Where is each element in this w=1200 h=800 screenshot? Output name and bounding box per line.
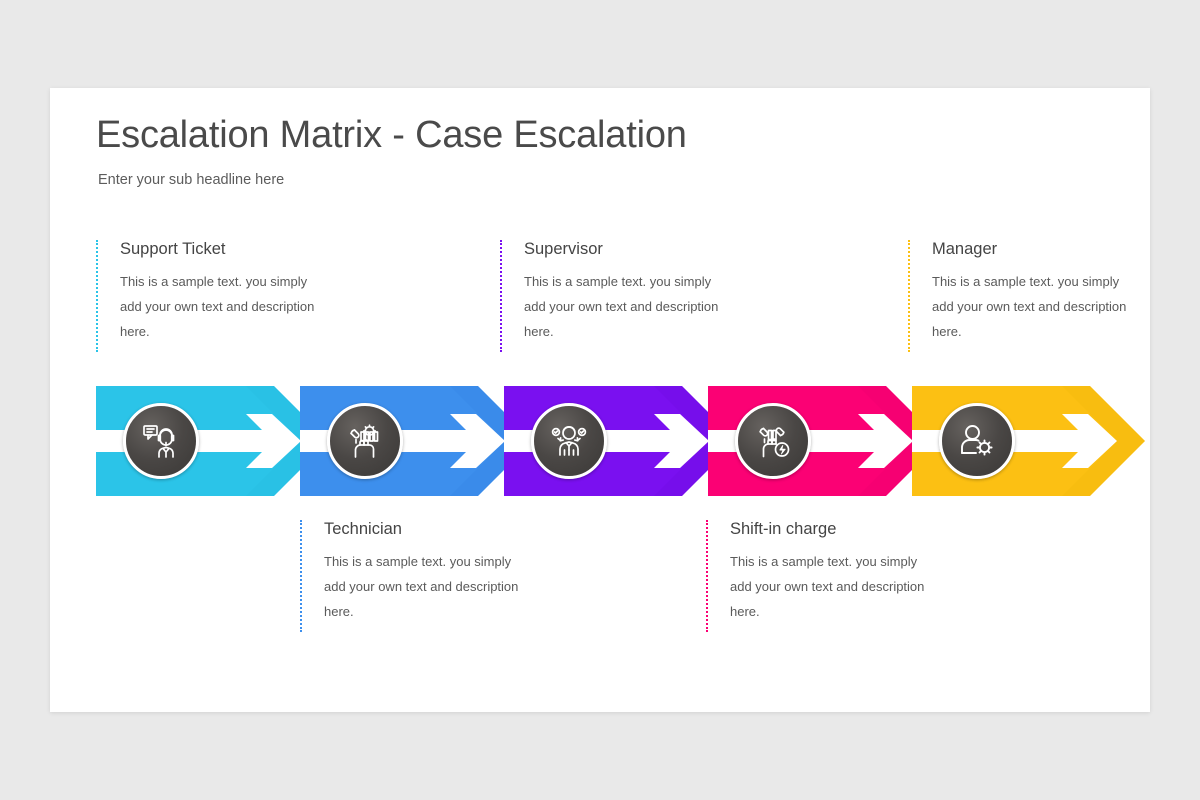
step-description: This is a sample text. you simply add yo… bbox=[730, 549, 930, 624]
process-step-supervisor[interactable] bbox=[504, 386, 744, 496]
step-text-manager[interactable]: Manager This is a sample text. you simpl… bbox=[908, 240, 1138, 352]
step-description: This is a sample text. you simply add yo… bbox=[120, 269, 320, 344]
chevron-arrow-shape bbox=[912, 386, 1152, 496]
step-text-shift-in-charge[interactable]: Shift-in charge This is a sample text. y… bbox=[706, 520, 936, 632]
chevron-arrow-shape bbox=[300, 386, 540, 496]
step-icon-badge[interactable] bbox=[327, 403, 403, 479]
chevron-arrow-shape bbox=[96, 386, 336, 496]
page-subtitle: Enter your sub headline here bbox=[98, 172, 284, 188]
connector-line bbox=[706, 520, 708, 632]
step-icon-badge[interactable] bbox=[531, 403, 607, 479]
slide-card: Escalation Matrix - Case Escalation Ente… bbox=[50, 88, 1150, 712]
step-label: Support Ticket bbox=[120, 240, 326, 259]
hand-wrench-power-icon bbox=[751, 419, 795, 463]
step-icon-badge[interactable] bbox=[735, 403, 811, 479]
chevron-arrow-shape bbox=[708, 386, 948, 496]
page-title: Escalation Matrix - Case Escalation bbox=[96, 114, 687, 157]
step-label: Technician bbox=[324, 520, 530, 539]
connector-line bbox=[908, 240, 910, 352]
step-description: This is a sample text. you simply add yo… bbox=[524, 269, 724, 344]
connector-line bbox=[300, 520, 302, 632]
step-icon-badge[interactable] bbox=[123, 403, 199, 479]
step-description: This is a sample text. you simply add yo… bbox=[324, 549, 524, 624]
hand-holding-tools-icon bbox=[343, 419, 387, 463]
step-icon-badge[interactable] bbox=[939, 403, 1015, 479]
step-text-technician[interactable]: Technician This is a sample text. you si… bbox=[300, 520, 530, 632]
step-label: Shift-in charge bbox=[730, 520, 936, 539]
user-gear-icon bbox=[955, 419, 999, 463]
supervisor-decision-icon bbox=[547, 419, 591, 463]
process-step-support-ticket[interactable] bbox=[96, 386, 336, 496]
process-step-technician[interactable] bbox=[300, 386, 540, 496]
chevron-arrow-shape bbox=[504, 386, 744, 496]
step-text-support-ticket[interactable]: Support Ticket This is a sample text. yo… bbox=[96, 240, 326, 352]
step-description: This is a sample text. you simply add yo… bbox=[932, 269, 1132, 344]
step-label: Manager bbox=[932, 240, 1138, 259]
step-label: Supervisor bbox=[524, 240, 730, 259]
step-text-supervisor[interactable]: Supervisor This is a sample text. you si… bbox=[500, 240, 730, 352]
connector-line bbox=[500, 240, 502, 352]
process-step-shift-in-charge[interactable] bbox=[708, 386, 948, 496]
process-step-manager[interactable] bbox=[912, 386, 1152, 496]
support-agent-headset-icon bbox=[139, 419, 183, 463]
connector-line bbox=[96, 240, 98, 352]
